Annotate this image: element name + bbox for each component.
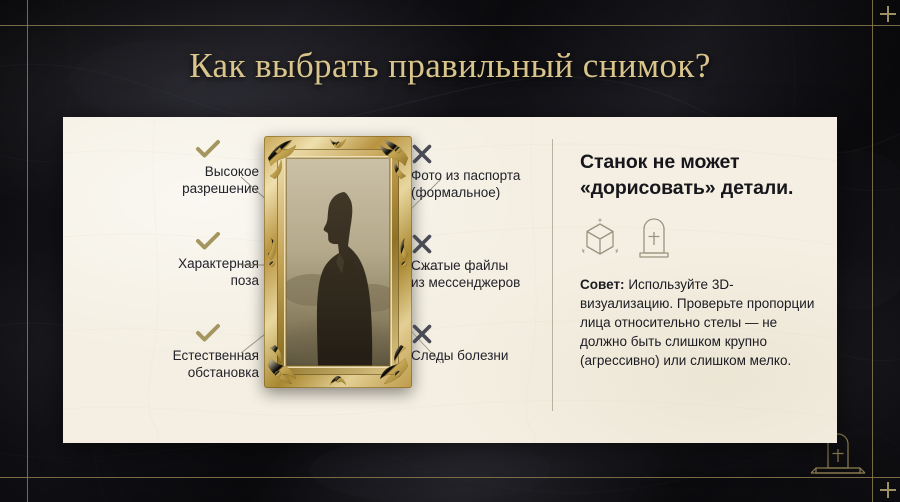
bad-item-2-label: Сжатые файлы из мессенджеров [411, 257, 520, 291]
picture-frame-inner-line [284, 156, 392, 368]
cross-icon [411, 323, 433, 345]
check-icon [195, 323, 221, 343]
rule-top-horizontal [0, 25, 900, 26]
cube-3d-icon [580, 217, 620, 259]
rule-bottom-horizontal [0, 477, 900, 478]
good-item-2-label: Характерная поза [178, 255, 259, 289]
framed-photo [264, 136, 412, 388]
tip-text: Совет: Используйте 3D-визуализацию. Пров… [580, 275, 818, 370]
cross-icon [411, 143, 433, 165]
panel-heading: Станок не может «дорисовать» детали. [580, 149, 818, 201]
cross-icon [411, 233, 433, 255]
gravestone-icon [636, 217, 672, 259]
check-icon [195, 139, 221, 159]
page-title: Как выбрать правильный снимок? [0, 46, 900, 86]
panel-icon-row [580, 215, 818, 259]
section-divider [552, 139, 553, 411]
good-item-3-label: Естественная обстановка [173, 347, 259, 381]
info-panel: Станок не может «дорисовать» детали. [580, 149, 818, 370]
bad-item-1-label: Фото из паспорта (формальное) [411, 167, 520, 201]
slide-root: Как выбрать правильный снимок? Высокое р… [0, 0, 900, 502]
check-icon [195, 231, 221, 251]
bad-item-3-label: Следы болезни [411, 347, 508, 364]
good-item-1-label: Высокое разрешение [182, 163, 259, 197]
tip-label: Совет: [580, 277, 625, 292]
content-card: Высокое разрешение Характерная поза Есте… [63, 117, 837, 443]
